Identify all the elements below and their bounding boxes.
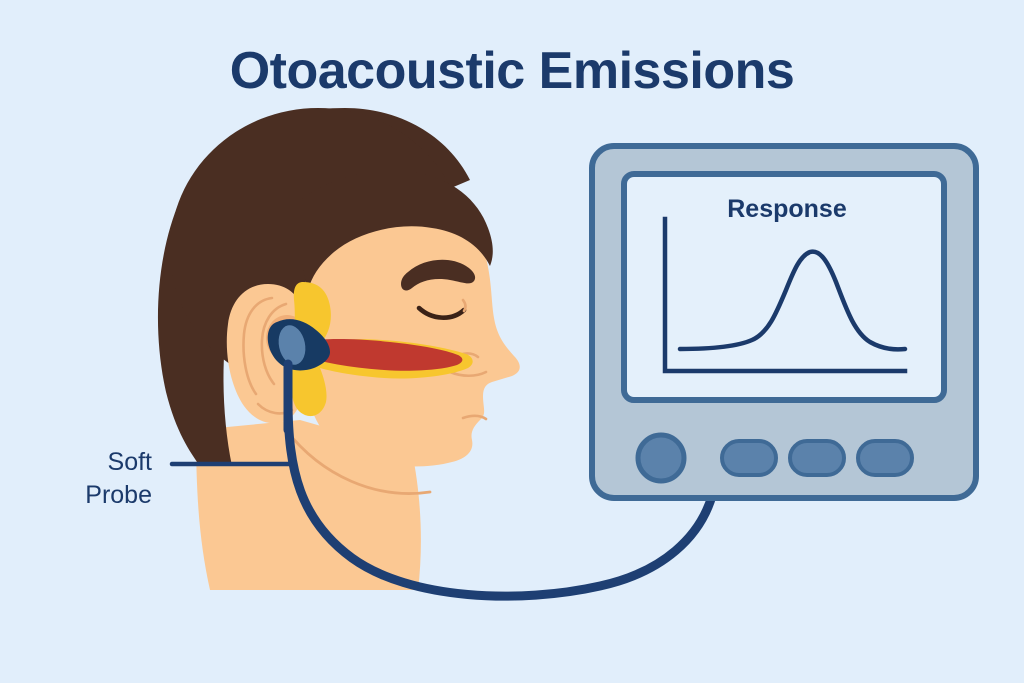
- page-title: Otoacoustic Emissions: [230, 42, 795, 100]
- device-button-2[interactable]: [790, 441, 844, 475]
- screen-response-label: Response: [727, 195, 847, 223]
- device-button-1[interactable]: [722, 441, 776, 475]
- probe-cable-port[interactable]: [638, 435, 684, 481]
- soft-probe-label-line2: Probe: [85, 481, 152, 509]
- illustration-root: Otoacoustic Emissions: [0, 0, 1024, 683]
- otoacoustic-emissions-diagram: Otoacoustic Emissions: [0, 0, 1024, 683]
- otoacoustic-analyzer-device[interactable]: Response: [592, 146, 976, 498]
- device-button-3[interactable]: [858, 441, 912, 475]
- soft-probe-label-line1: Soft: [108, 448, 153, 476]
